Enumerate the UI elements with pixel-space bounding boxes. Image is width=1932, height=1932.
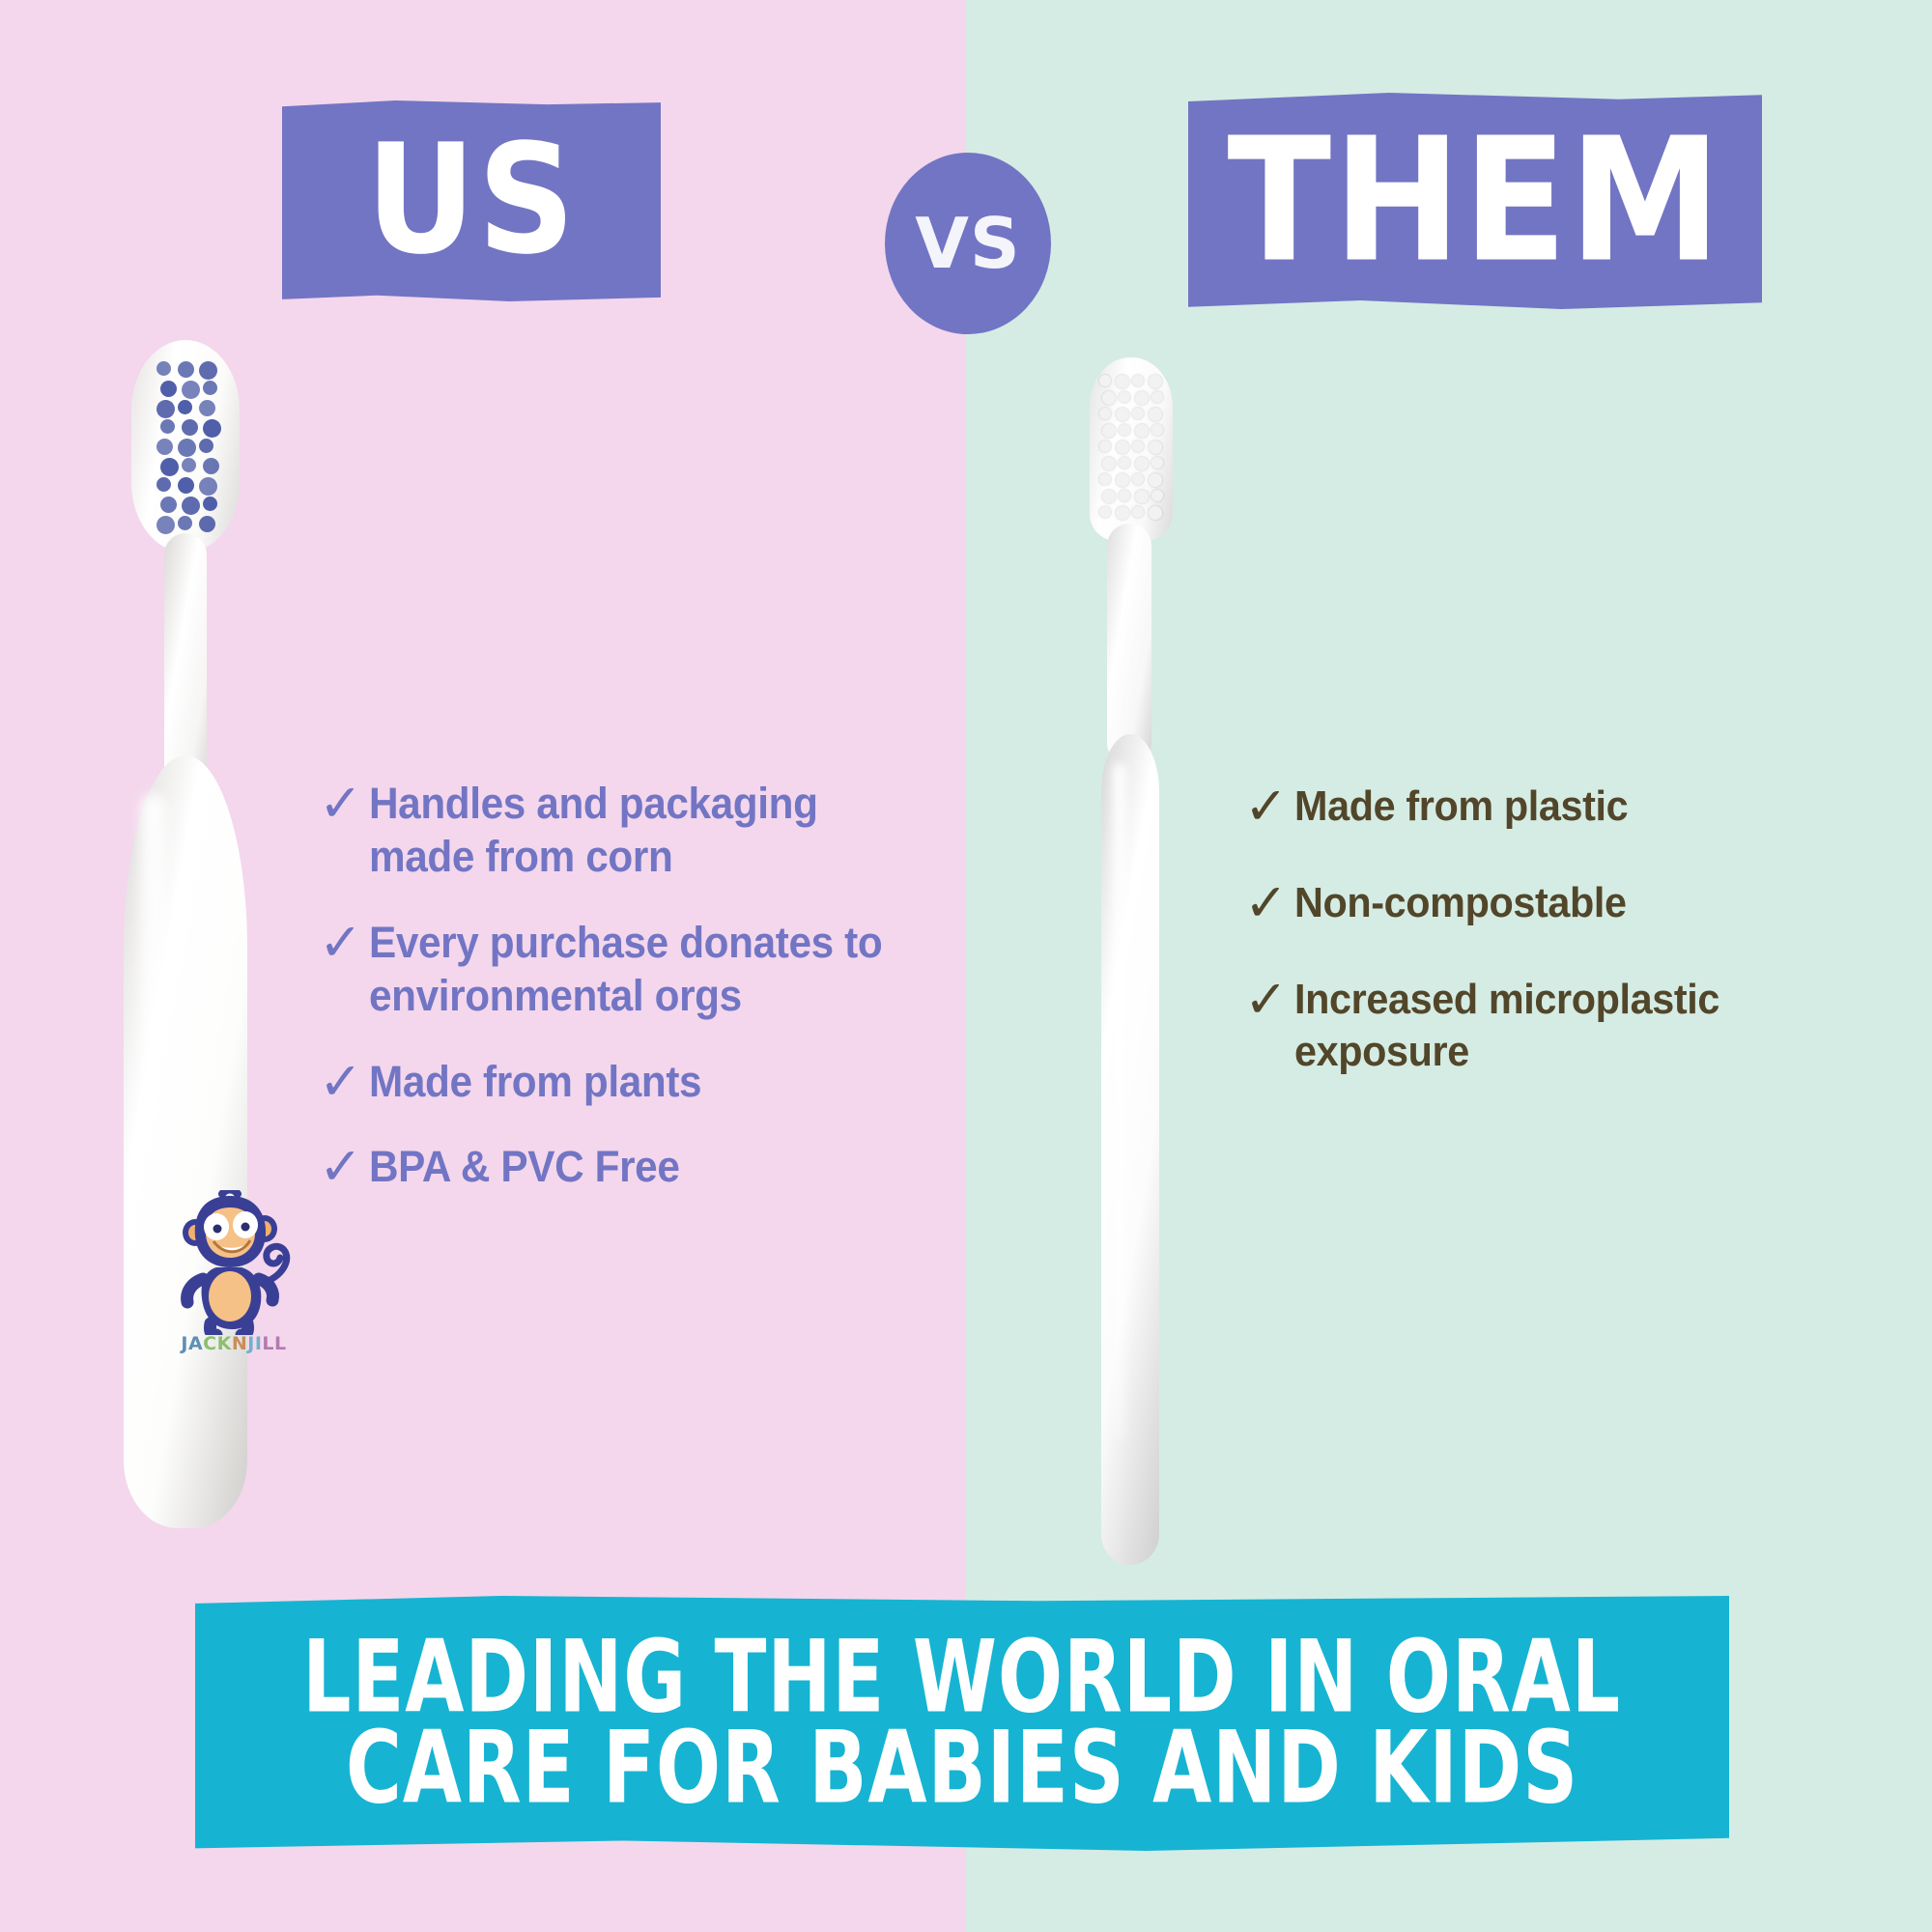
brand-letters-4: LL (262, 1333, 286, 1354)
bristle-tuft (1132, 473, 1144, 485)
check-icon: ✓ (319, 1056, 369, 1108)
bristle-tuft (203, 458, 219, 474)
bristle-tuft (203, 381, 217, 395)
brand-letters-0: JA (181, 1333, 203, 1354)
banner-them: THEM (1188, 93, 1762, 309)
banner-us: US (282, 100, 661, 301)
bristle-tuft (1149, 506, 1162, 520)
tagline-banner: LEADING THE WORLD IN ORAL CARE FOR BABIE… (195, 1596, 1729, 1851)
brand-letters-2: N (232, 1333, 247, 1354)
bristle-tuft (1149, 375, 1162, 388)
toothbrush-them-image (1063, 357, 1198, 1565)
toothbrush-us-head (131, 340, 240, 553)
bristle-tuft (203, 419, 221, 438)
toothbrush-us-handle (124, 755, 247, 1528)
bristle-tuft (160, 497, 177, 513)
bristle-tuft (199, 439, 213, 453)
list-item: ✓ Non-compostable (1244, 877, 1862, 929)
bristle-tuft (1132, 440, 1144, 452)
bristle-tuft (156, 361, 171, 376)
toothbrush-them-handle (1101, 734, 1159, 1565)
list-item: ✓ Every purchase donates to environmenta… (319, 917, 937, 1023)
bristle-tuft (1135, 391, 1149, 405)
bristle-tuft (1102, 391, 1116, 405)
bristle-tuft (1099, 408, 1111, 419)
bristle-tuft (1132, 506, 1144, 518)
bristle-tuft (1116, 473, 1129, 487)
banner-them-label: THEM (1227, 116, 1722, 287)
bristle-tuft (1151, 490, 1163, 501)
check-icon: ✓ (1244, 781, 1294, 833)
bristle-tuft (178, 516, 192, 530)
brand-logotype: JACKNJILL (166, 1333, 301, 1354)
feature-list-them: ✓ Made from plastic ✓ Non-compostable ✓ … (1244, 781, 1862, 1122)
check-icon: ✓ (1244, 974, 1294, 1026)
monkey-mascot-icon (174, 1190, 294, 1335)
list-item: ✓ Made from plastic (1244, 781, 1862, 833)
bristle-tuft (1151, 457, 1163, 469)
bristle-tuft (1149, 408, 1162, 421)
banner-us-label: US (366, 126, 578, 277)
list-item-label: BPA & PVC Free (369, 1141, 679, 1194)
bristle-tuft (199, 361, 217, 380)
check-icon: ✓ (319, 778, 369, 830)
bristle-tuft (1099, 440, 1111, 452)
bristle-tuft (1151, 424, 1163, 436)
bristle-tuft (1116, 440, 1129, 454)
bristle-tuft (156, 439, 173, 455)
bristle-tuft (1132, 375, 1144, 386)
bristle-tuft (178, 400, 192, 414)
bristle-tuft (199, 516, 215, 532)
check-icon: ✓ (1244, 877, 1294, 929)
bristle-tuft (178, 361, 194, 378)
bristle-tuft (182, 381, 200, 399)
bristle-tuft (156, 477, 171, 492)
toothbrush-us-image: JACKNJILL (81, 340, 290, 1528)
bristle-tuft (1135, 424, 1149, 438)
vs-badge: VS (885, 153, 1051, 334)
bristle-tuft (178, 477, 194, 494)
bristle-tuft (160, 381, 177, 397)
bristle-tuft (182, 497, 200, 515)
bristle-tuft (199, 400, 215, 416)
list-item-label: Every purchase donates to environmental … (369, 917, 903, 1023)
feature-list-us: ✓ Handles and packaging made from corn ✓… (319, 778, 937, 1227)
bristle-tuft (1099, 375, 1111, 386)
list-item-label: Made from plants (369, 1056, 701, 1109)
check-icon: ✓ (319, 917, 369, 969)
brand-letters-3: JI (247, 1333, 262, 1354)
list-item: ✓ BPA & PVC Free (319, 1141, 937, 1194)
toothbrush-them-neck (1107, 524, 1151, 765)
brand-letters-1: CK (203, 1333, 232, 1354)
bristle-tuft (182, 419, 198, 436)
list-item-label: Handles and packaging made from corn (369, 778, 903, 884)
bristle-tuft (1102, 457, 1116, 470)
bristle-tuft (156, 516, 175, 534)
bristle-tuft (1119, 424, 1130, 436)
bristle-tuft (1116, 506, 1129, 520)
list-item-label: Increased microplastic exposure (1294, 974, 1829, 1077)
bristle-tuft (160, 419, 175, 434)
bristle-tuft (156, 400, 175, 418)
list-item: ✓ Handles and packaging made from corn (319, 778, 937, 884)
toothbrush-them-head (1090, 357, 1173, 541)
tagline-line-2: CARE FOR BABIES AND KIDS (346, 1718, 1578, 1819)
bristle-tuft (1099, 473, 1111, 485)
bristle-tuft (1116, 408, 1129, 421)
bristle-tuft (182, 458, 196, 472)
bristle-tuft (1116, 375, 1129, 388)
bristle-tuft (1149, 440, 1162, 454)
bristle-tuft (160, 458, 179, 476)
bristle-tuft (1135, 490, 1149, 503)
bristle-tuft (1132, 408, 1144, 419)
infographic-canvas: US VS THEM (0, 0, 1932, 1932)
vs-badge-label: VS (915, 203, 1021, 284)
list-item-label: Made from plastic (1294, 781, 1628, 833)
bristle-tuft (203, 497, 217, 511)
bristle-tuft (1119, 391, 1130, 403)
bristle-tuft (199, 477, 217, 496)
list-item-label: Non-compostable (1294, 877, 1627, 929)
bristle-tuft (178, 439, 196, 457)
bristle-tuft (1102, 424, 1116, 438)
bristle-tuft (1119, 490, 1130, 501)
bristle-tuft (1149, 473, 1162, 487)
list-item: ✓ Increased microplastic exposure (1244, 974, 1862, 1077)
check-icon: ✓ (319, 1141, 369, 1193)
bristle-tuft (1135, 457, 1149, 470)
bristle-tuft (1102, 490, 1116, 503)
bristle-tuft (1119, 457, 1130, 469)
list-item: ✓ Made from plants (319, 1056, 937, 1109)
bristle-tuft (1099, 506, 1111, 518)
bristle-tuft (1151, 391, 1163, 403)
